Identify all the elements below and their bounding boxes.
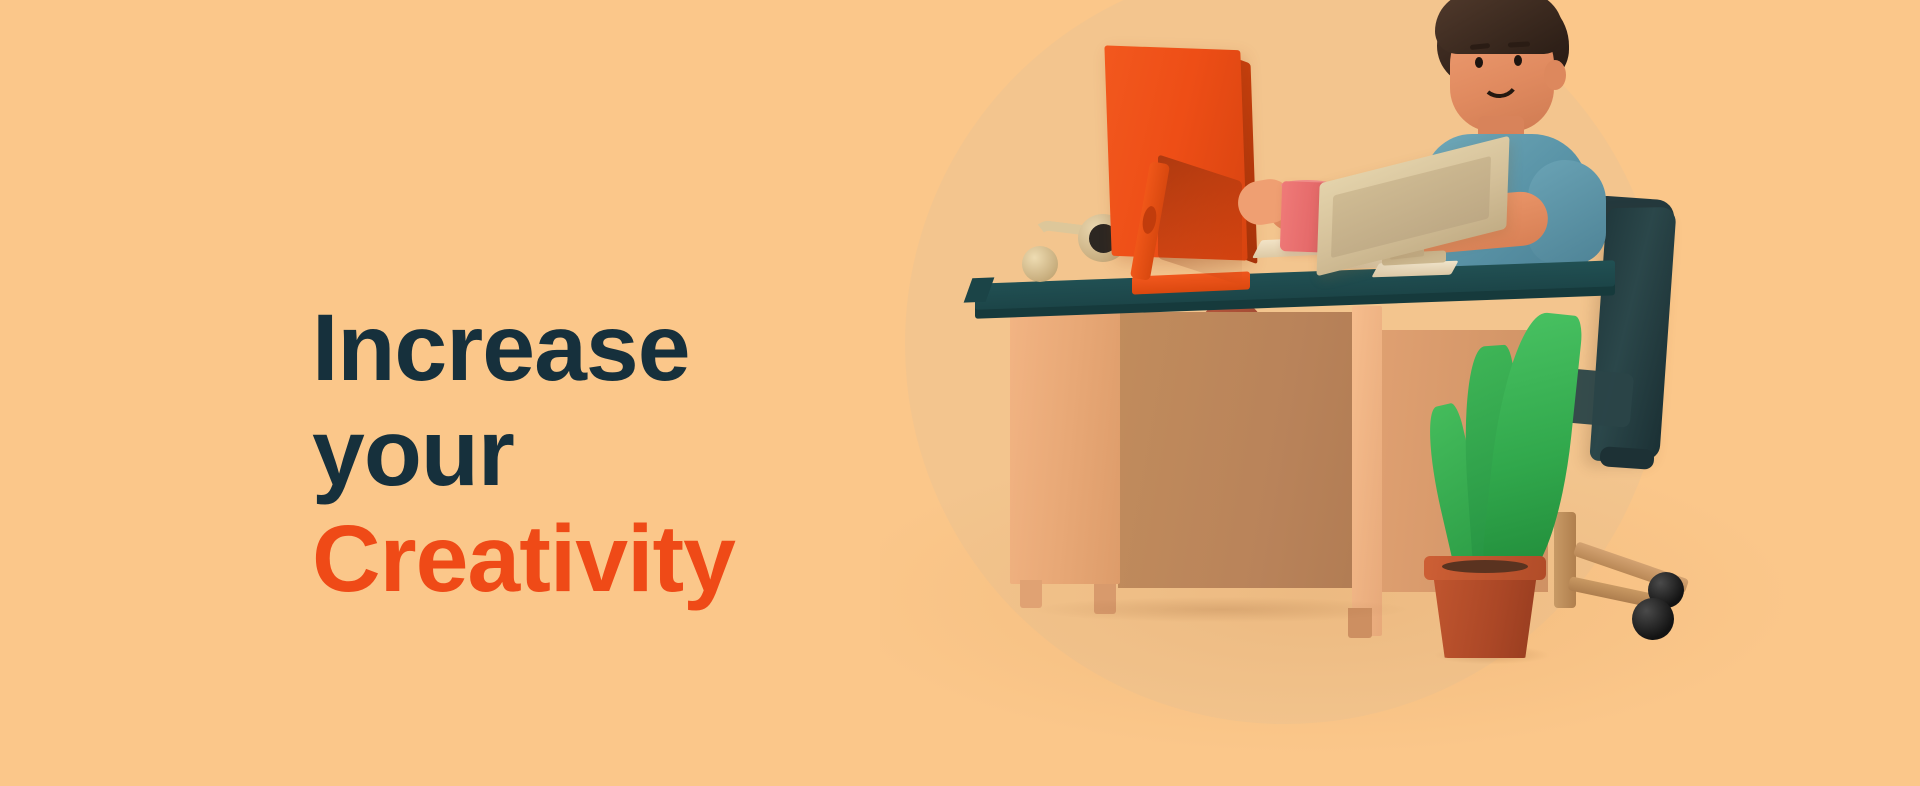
desk-scene-illustration (0, 0, 1920, 786)
character-ear (1544, 60, 1566, 90)
chair-post (1554, 512, 1576, 608)
character-hair-front (1435, 0, 1563, 54)
character-eye-right (1514, 55, 1522, 66)
hero-banner: Increase your Creativity (0, 0, 1920, 786)
character-eye-left (1475, 57, 1483, 68)
plant-pot-soil (1442, 560, 1528, 573)
desk-left-pedestal (1010, 306, 1120, 584)
desk-modesty-panel (1118, 312, 1378, 588)
desk-front-leg (1352, 306, 1382, 636)
chair-caster-lower (1632, 598, 1674, 640)
headphones-earcup-left (1022, 246, 1058, 282)
desk-ground-shadow (1000, 596, 1440, 630)
chair-backrest-base (1599, 446, 1654, 470)
